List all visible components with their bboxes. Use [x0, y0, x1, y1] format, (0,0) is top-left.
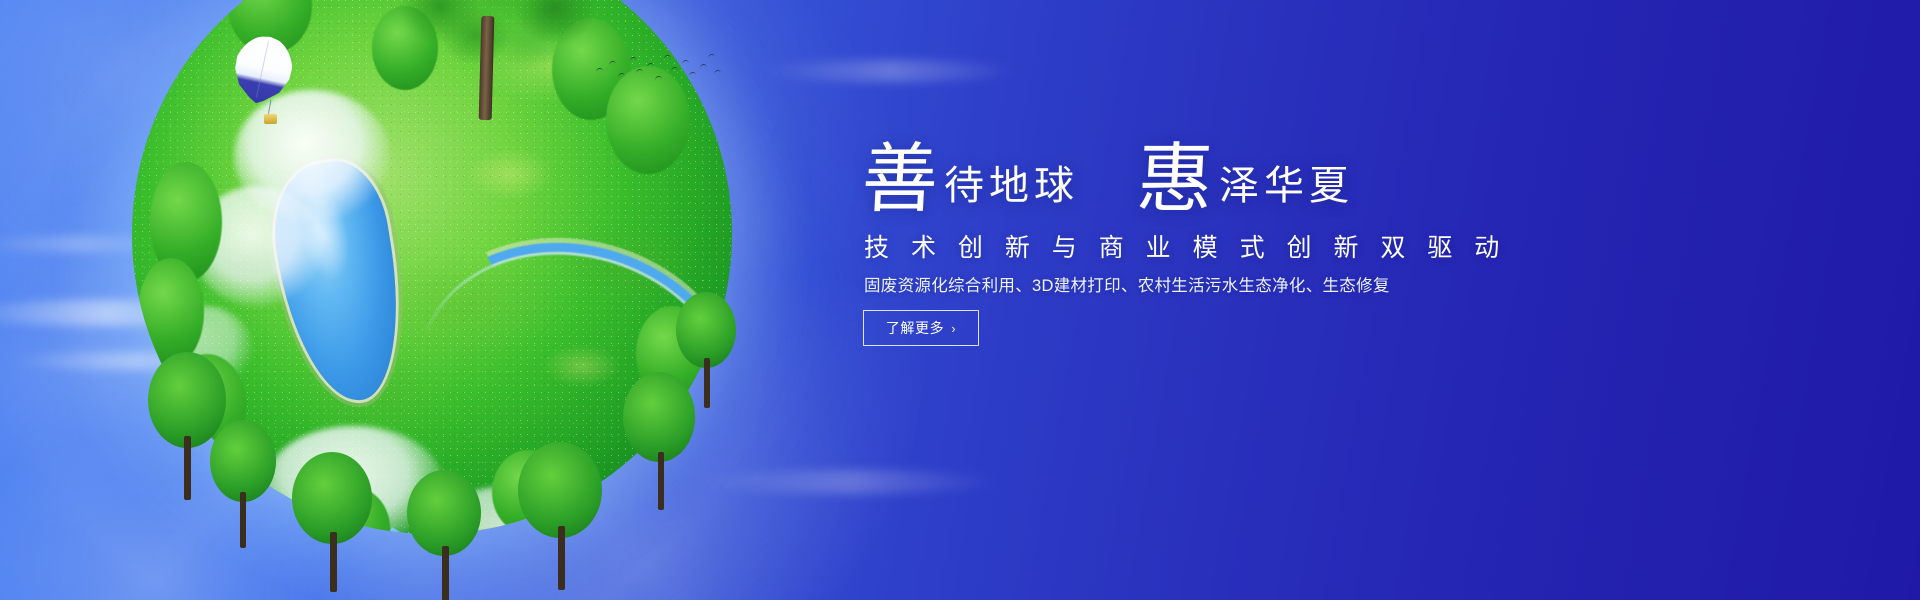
rim-tree [402, 470, 488, 600]
hero-banner: 善 待地球 惠 泽华夏 技 术 创 新 与 商 业 模 式 创 新 双 驱 动 … [0, 0, 1920, 600]
learn-more-label: 了解更多 [886, 318, 944, 338]
rim-tree [512, 442, 608, 592]
chevron-right-icon: › [951, 322, 956, 335]
rim-tree [286, 452, 378, 592]
learn-more-button[interactable]: 了解更多 › [863, 310, 979, 346]
rim-tree [672, 292, 742, 410]
page-title: 善 待地球 惠 泽华夏 [862, 141, 1354, 217]
hero-copy-block: 善 待地球 惠 泽华夏 技 术 创 新 与 商 业 模 式 创 新 双 驱 动 … [862, 0, 1562, 600]
page-description: 固废资源化综合利用、3D建材打印、农村生活污水生态净化、生态修复 [864, 272, 1390, 296]
headline-char-2: 惠 [1135, 141, 1215, 217]
tree-canopy [392, 0, 612, 74]
hot-air-balloon-icon [233, 36, 293, 128]
headline-text-2: 泽华夏 [1219, 166, 1354, 206]
bird-flock-icon [592, 52, 722, 92]
globe-bush [138, 258, 204, 366]
foreground-tree [392, 0, 612, 114]
rim-tree [206, 420, 282, 550]
headline-text-1: 待地球 [944, 166, 1079, 206]
headline-char-1: 善 [860, 141, 940, 217]
tree-trunk [479, 16, 495, 120]
page-subtitle: 技 术 创 新 与 商 业 模 式 创 新 双 驱 动 [864, 228, 1507, 264]
